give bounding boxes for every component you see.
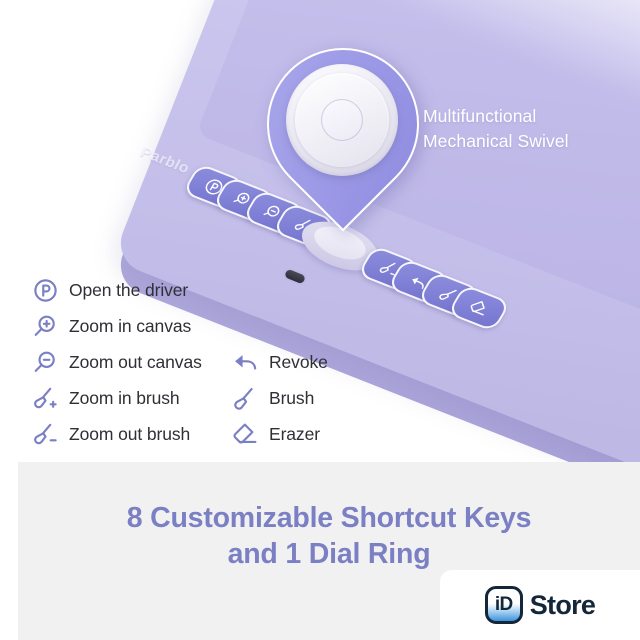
- legend-item-zoom-out-canvas: Zoom out canvas: [30, 344, 202, 380]
- swivel-magnifier-pin: [267, 48, 415, 244]
- magnifier-plus-icon: [30, 311, 60, 341]
- dial-ring-outer: [286, 64, 398, 176]
- brush-minus-icon: [30, 419, 60, 449]
- legend-right-column: Revoke Brush Erazer: [230, 344, 328, 452]
- headline-line-1: 8 Customizable Shortcut Keys: [18, 500, 640, 536]
- banner-headline: 8 Customizable Shortcut Keys and 1 Dial …: [18, 500, 640, 572]
- legend-item-revoke: Revoke: [230, 344, 328, 380]
- product-marketing-image: Parblo: [0, 0, 640, 640]
- legend-label: Revoke: [269, 352, 328, 373]
- legend-label: Zoom out brush: [69, 424, 190, 445]
- legend-item-erazer: Erazer: [230, 416, 328, 452]
- store-logo-text: Store: [530, 590, 596, 621]
- store-logo-card[interactable]: iD Store: [440, 570, 640, 640]
- id-badge-icon: iD: [485, 586, 523, 624]
- swivel-callout-text: Multifunctional Mechanical Swivel: [423, 104, 623, 154]
- brush-icon: [230, 383, 260, 413]
- legend-label: Zoom in canvas: [69, 316, 191, 337]
- legend-label: Erazer: [269, 424, 320, 445]
- dial-ring-mid: [295, 73, 389, 167]
- legend-item-zoom-in-brush: Zoom in brush: [30, 380, 202, 416]
- circle-p-icon: [30, 275, 60, 305]
- id-store-logo: iD Store: [485, 586, 596, 624]
- headline-line-2: and 1 Dial Ring: [18, 536, 640, 572]
- legend-label: Brush: [269, 388, 314, 409]
- dial-ring-inner: [321, 99, 363, 141]
- legend-left-column: Open the driver Zoom in canvas Zoom out …: [30, 272, 202, 452]
- legend-item-zoom-in-canvas: Zoom in canvas: [30, 308, 202, 344]
- shortcut-legend: Open the driver Zoom in canvas Zoom out …: [0, 272, 640, 458]
- legend-item-open-driver: Open the driver: [30, 272, 202, 308]
- undo-arrow-icon: [230, 347, 260, 377]
- callout-line-2: Mechanical Swivel: [423, 129, 623, 154]
- legend-item-brush: Brush: [230, 380, 328, 416]
- legend-item-zoom-out-brush: Zoom out brush: [30, 416, 202, 452]
- legend-label: Zoom in brush: [69, 388, 180, 409]
- brush-plus-icon: [30, 383, 60, 413]
- eraser-icon: [230, 419, 260, 449]
- legend-label: Zoom out canvas: [69, 352, 202, 373]
- callout-line-1: Multifunctional: [423, 104, 623, 129]
- magnifier-minus-icon: [30, 347, 60, 377]
- legend-label: Open the driver: [69, 280, 188, 301]
